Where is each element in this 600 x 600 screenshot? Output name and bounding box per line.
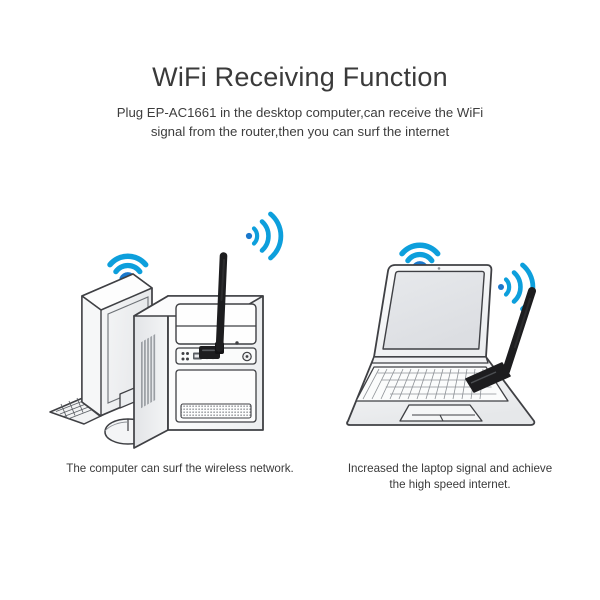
laptop-caption-line-1: Increased the laptop signal and achieve — [315, 461, 585, 477]
product-infographic-page: WiFi Receiving Function Plug EP-AC1661 i… — [0, 0, 600, 600]
antenna — [506, 291, 532, 371]
tower-case — [134, 296, 263, 448]
laptop-trackpad — [400, 405, 482, 421]
subtitle-line-2: signal from the router,then you can surf… — [100, 122, 500, 141]
tower-drive-bay — [176, 304, 256, 344]
page-title: WiFi Receiving Function — [0, 60, 600, 94]
desktop-caption-line-1: The computer can surf the wireless netwo… — [45, 461, 315, 477]
subtitle-line-1: Plug EP-AC1661 in the desktop computer,c… — [100, 103, 500, 122]
laptop-display-panel — [383, 271, 484, 349]
illustration-stage — [0, 180, 600, 470]
wifi-signal-icon-antenna — [246, 214, 281, 258]
laptop-caption: Increased the laptop signal and achieve … — [315, 461, 585, 493]
laptop-hinge — [372, 357, 488, 363]
antenna — [220, 256, 225, 348]
laptop-screen — [374, 265, 491, 357]
header: WiFi Receiving Function Plug EP-AC1661 i… — [0, 60, 600, 141]
desktop-scene — [48, 180, 328, 460]
tower-bottom-vent — [181, 404, 251, 418]
laptop-illustration — [330, 235, 580, 450]
laptop-scene — [330, 235, 580, 450]
laptop-caption-line-2: the high speed internet. — [315, 477, 585, 493]
webcam-icon — [438, 267, 441, 270]
tower-side-vent — [141, 334, 156, 409]
desktop-computer-illustration — [48, 180, 328, 465]
desktop-caption: The computer can surf the wireless netwo… — [45, 461, 315, 477]
page-subtitle: Plug EP-AC1661 in the desktop computer,c… — [100, 103, 500, 141]
